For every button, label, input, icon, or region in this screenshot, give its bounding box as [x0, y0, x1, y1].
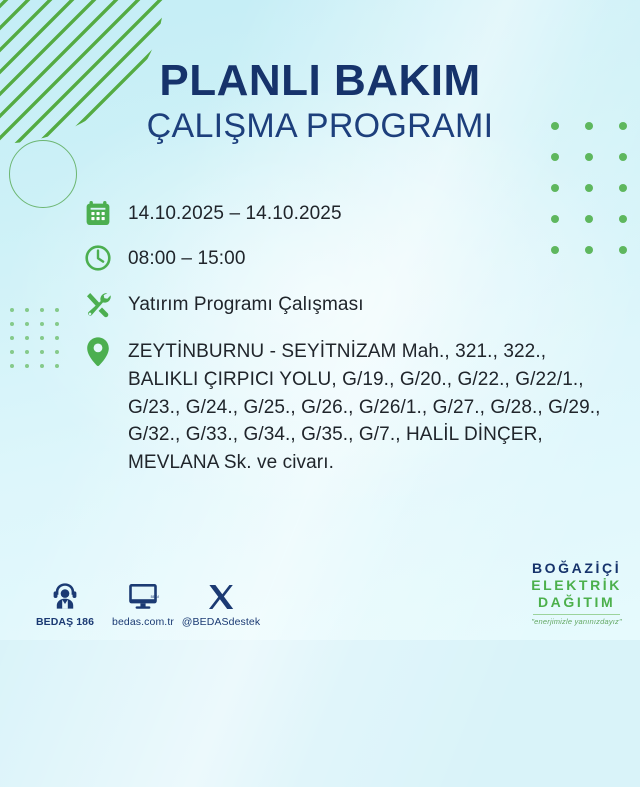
- headset-icon: [50, 577, 80, 611]
- date-range-value: 14.10.2025 – 14.10.2025: [128, 198, 342, 227]
- location-address-value: ZEYTİNBURNU - SEYİTNİZAM Mah., 321., 322…: [128, 335, 602, 478]
- footer-link-x-social[interactable]: @BEDASdestek: [182, 577, 260, 628]
- time-range-value: 08:00 – 15:00: [128, 243, 246, 272]
- calendar-icon: [84, 198, 128, 227]
- outage-info-list: 14.10.2025 – 14.10.2025 08:00 – 15:00: [84, 198, 602, 491]
- footer-link-call-center-label: BEDAŞ 186: [36, 616, 94, 628]
- work-type-value: Yatırım Programı Çalışması: [128, 289, 364, 318]
- brand-divider: [533, 614, 620, 615]
- footer-link-call-center[interactable]: BEDAŞ 186: [26, 577, 104, 628]
- title-main-text: PLANLI BAKIM: [0, 58, 640, 104]
- svg-text:BEDAŞ: BEDAŞ: [151, 595, 159, 599]
- footer-link-website-label: bedas.com.tr: [112, 616, 174, 628]
- brand-tagline: "enerjimizle yanınızdayız": [531, 617, 622, 626]
- info-row-time: 08:00 – 15:00: [84, 243, 602, 272]
- footer-contact-links: BEDAŞ 186 BEDAŞ bedas.com.tr @BEDASde: [26, 577, 260, 628]
- footer-link-x-social-label: @BEDASdestek: [182, 616, 260, 628]
- tools-icon: [84, 289, 128, 318]
- info-row-location: ZEYTİNBURNU - SEYİTNİZAM Mah., 321., 322…: [84, 335, 602, 478]
- footer: BEDAŞ 186 BEDAŞ bedas.com.tr @BEDASde: [0, 548, 640, 640]
- brand-line-dagitim: DAĞITIM: [531, 594, 622, 611]
- bedas-logo: BOĞAZİÇİ ELEKTRİK DAĞITIM "enerjimizle y…: [531, 560, 622, 626]
- info-row-work-type: Yatırım Programı Çalışması: [84, 289, 602, 318]
- brand-line-elektrik: ELEKTRİK: [531, 577, 622, 594]
- x-twitter-icon: [207, 577, 235, 611]
- monitor-icon: BEDAŞ: [127, 577, 159, 611]
- poster-content: PLANLI BAKIM ÇALIŞMA PROGRAMI: [0, 0, 640, 640]
- brand-line-bogazici: BOĞAZİÇİ: [531, 560, 622, 577]
- footer-link-website[interactable]: BEDAŞ bedas.com.tr: [104, 577, 182, 628]
- page-title: PLANLI BAKIM ÇALIŞMA PROGRAMI: [0, 58, 640, 146]
- map-pin-icon: [84, 335, 128, 368]
- info-row-date: 14.10.2025 – 14.10.2025: [84, 198, 602, 227]
- clock-icon: [84, 243, 128, 272]
- title-sub-text: ÇALIŞMA PROGRAMI: [0, 108, 640, 145]
